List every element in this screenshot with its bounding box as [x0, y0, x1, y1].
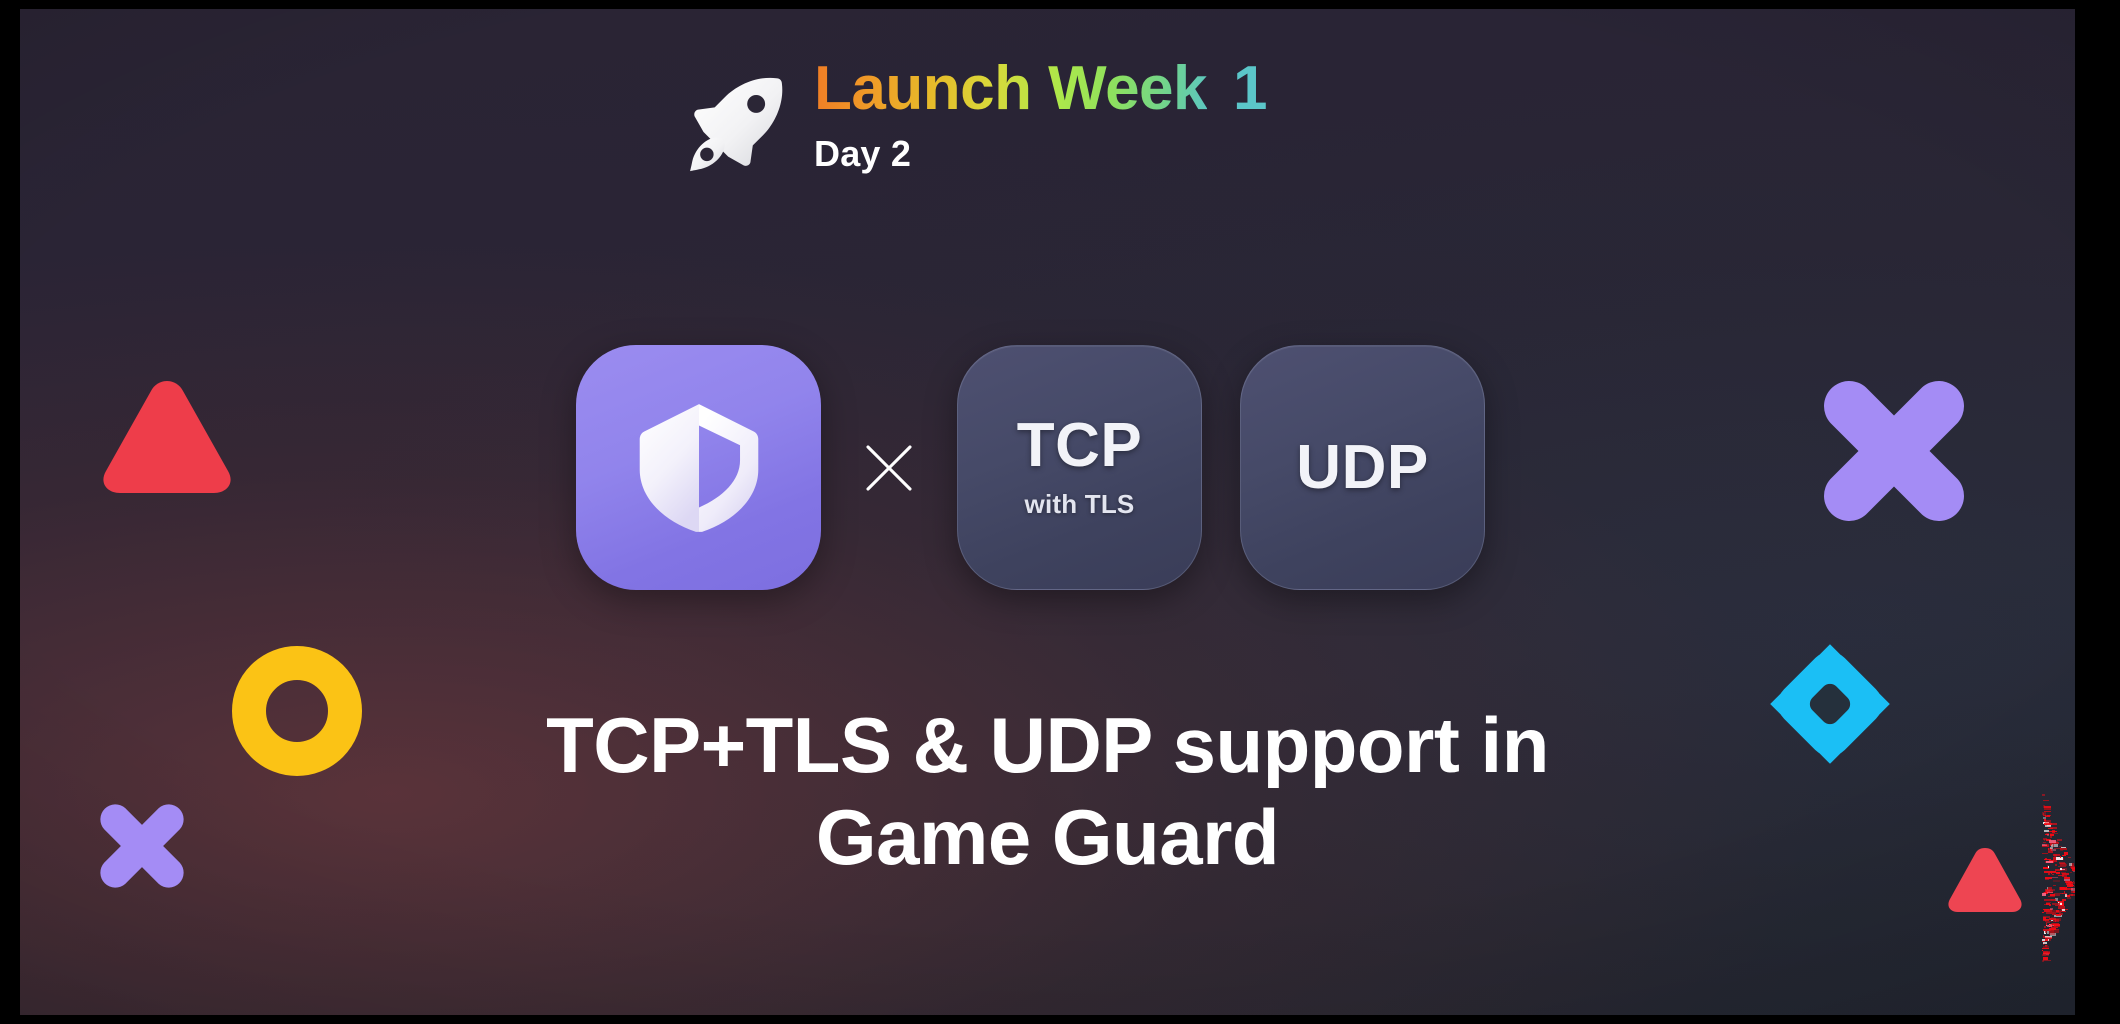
protocol-title-udp: UDP	[1296, 437, 1428, 499]
day-label: Day 2	[814, 133, 1267, 175]
protocol-subtitle-tcp: with TLS	[1025, 489, 1135, 520]
poster-canvas: Launch Week 1 Day 2	[20, 9, 2075, 1015]
launch-week-number: 1	[1233, 57, 1267, 121]
launch-week-header: Launch Week 1 Day 2	[680, 57, 1267, 179]
launch-week-title: Launch Week	[814, 57, 1207, 121]
protocol-title-tcp: TCP	[1017, 415, 1143, 477]
game-guard-shield-card	[576, 345, 821, 590]
protocol-card-udp: UDP	[1240, 345, 1485, 590]
multiply-icon	[861, 440, 917, 496]
rocket-icon	[680, 67, 792, 179]
headline-line-2: Game Guard	[200, 791, 1895, 883]
protocol-card-tcp: TCP with TLS	[957, 345, 1202, 590]
page-headline: TCP+TLS & UDP support in Game Guard	[20, 699, 2075, 883]
x-purple-large-icon	[1820, 377, 1968, 525]
shield-icon	[623, 392, 775, 544]
headline-line-1: TCP+TLS & UDP support in	[200, 699, 1895, 791]
triangle-red-left-icon	[97, 375, 237, 497]
protocol-card-row: TCP with TLS UDP	[576, 345, 1485, 590]
